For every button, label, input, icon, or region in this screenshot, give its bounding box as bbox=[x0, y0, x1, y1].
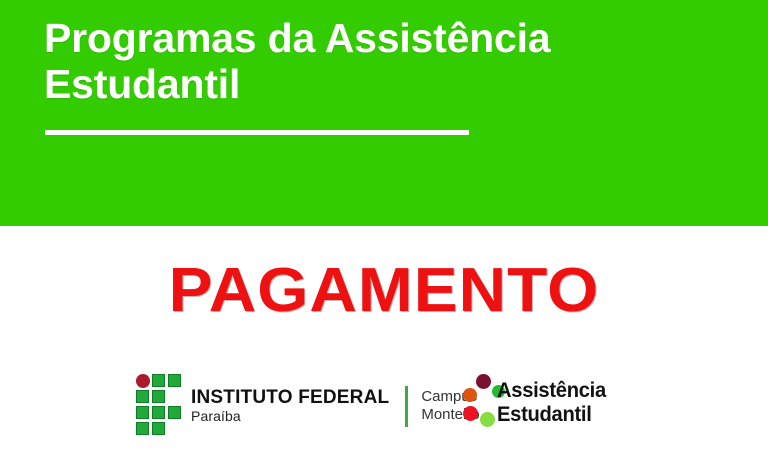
headline-pagamento: PAGAMENTO bbox=[0, 260, 768, 322]
ifpb-name-label: INSTITUTO FEDERAL bbox=[191, 388, 389, 408]
assistencia-wordmark: Assistência Estudantil bbox=[497, 380, 610, 425]
ifpb-square bbox=[152, 390, 165, 403]
assistencia-dot bbox=[480, 412, 495, 427]
title-underline-rule bbox=[45, 130, 469, 135]
ifpb-square bbox=[136, 422, 149, 435]
ifpb-square bbox=[168, 406, 181, 419]
campus-divider bbox=[405, 386, 408, 427]
ifpb-state-label: Paraíba bbox=[191, 409, 389, 424]
ifpb-square bbox=[136, 406, 149, 419]
assistencia-dots-icon bbox=[459, 372, 499, 432]
assistencia-label-line1: Assistência bbox=[497, 380, 606, 401]
assistencia-label-line2: Estudantil bbox=[497, 404, 606, 425]
assistencia-estudantil-logo: Assistência Estudantil bbox=[459, 372, 610, 432]
footer-logo-bar: INSTITUTO FEDERAL Paraíba Campus Monteir… bbox=[0, 370, 768, 452]
ifpb-logo: INSTITUTO FEDERAL Paraíba Campus Monteir… bbox=[136, 374, 480, 438]
green-banner: Programas da Assistência Estudantil bbox=[0, 0, 768, 226]
assistencia-dot bbox=[463, 406, 478, 421]
ifpb-square bbox=[152, 406, 165, 419]
ifpb-circle bbox=[136, 374, 150, 388]
ifpb-mark-icon bbox=[136, 374, 182, 438]
page-title: Programas da Assistência Estudantil bbox=[44, 16, 744, 108]
assistencia-dot bbox=[476, 374, 491, 389]
ifpb-wordmark: INSTITUTO FEDERAL Paraíba bbox=[191, 388, 389, 424]
ifpb-square bbox=[152, 422, 165, 435]
assistencia-dot bbox=[463, 388, 477, 402]
ifpb-square bbox=[136, 390, 149, 403]
ifpb-square bbox=[168, 374, 181, 387]
ifpb-square bbox=[152, 374, 165, 387]
headline-area: PAGAMENTO bbox=[0, 226, 768, 356]
